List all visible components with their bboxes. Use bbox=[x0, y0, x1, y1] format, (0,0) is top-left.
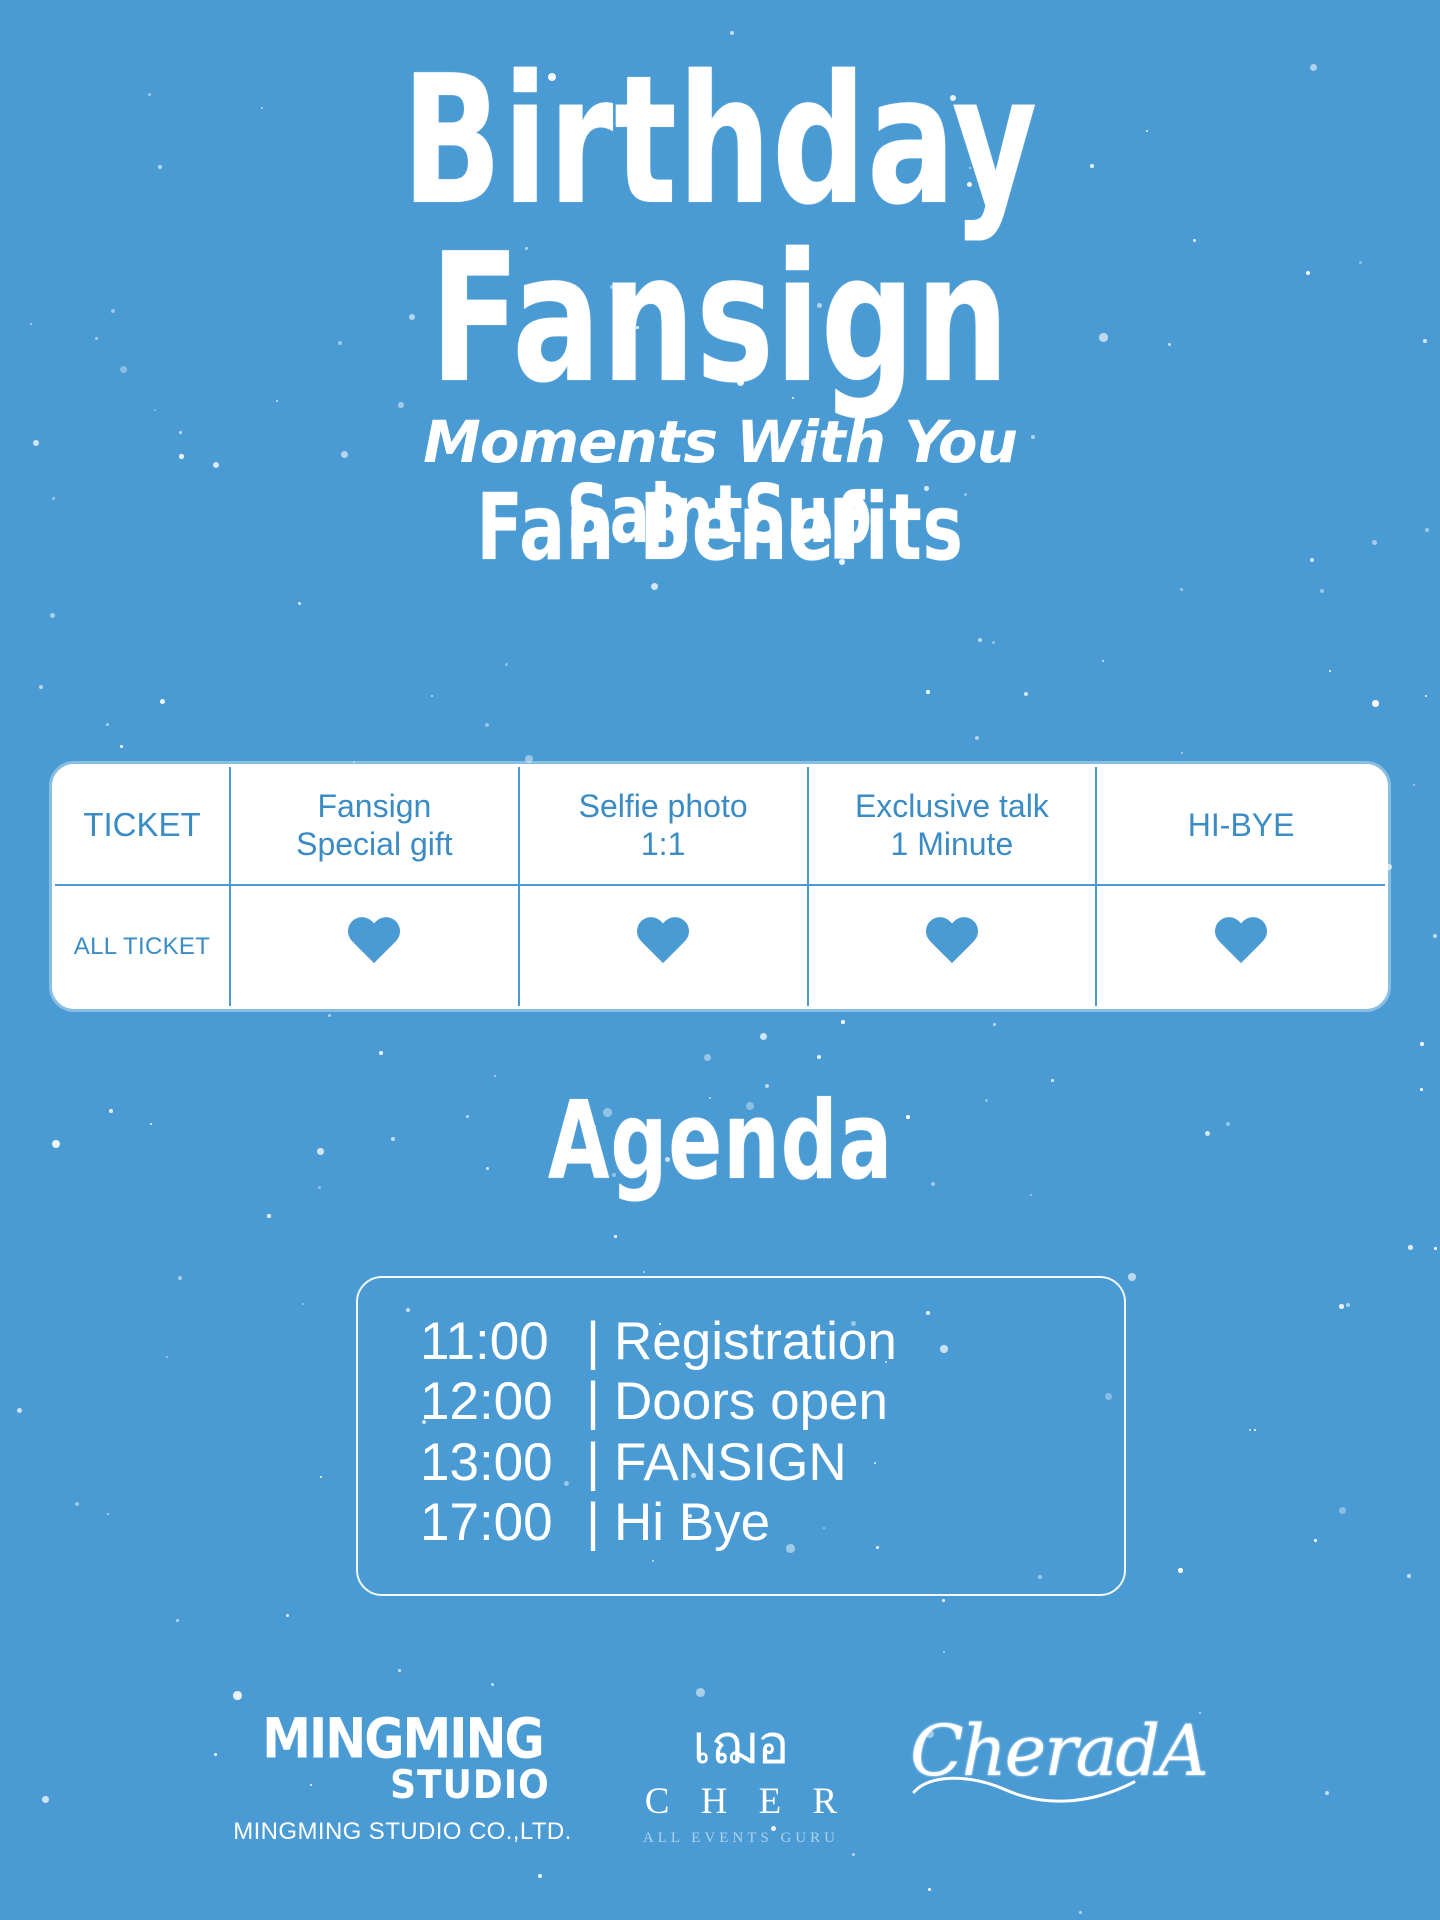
star-dot bbox=[1320, 589, 1324, 593]
star-dot bbox=[1372, 700, 1379, 707]
benefit-cell-exclusive-talk bbox=[808, 885, 1097, 1007]
star-dot bbox=[704, 1054, 711, 1061]
column-header-exclusive-talk: Exclusive talk1 Minute bbox=[808, 767, 1097, 885]
star-dot bbox=[1178, 1568, 1183, 1573]
star-dot bbox=[841, 1020, 845, 1024]
star-dot bbox=[1180, 588, 1183, 591]
mingming-caption: MINGMING STUDIO CO.,LTD. bbox=[233, 1818, 572, 1846]
agenda-label: Hi Bye bbox=[614, 1493, 770, 1553]
star-dot bbox=[491, 1683, 494, 1686]
star-dot bbox=[1433, 934, 1437, 938]
column-header-fansign-gift: FansignSpecial gift bbox=[230, 767, 519, 885]
cher-wordmark: C H E R bbox=[634, 1780, 848, 1823]
benefit-cell-selfie-photo bbox=[519, 885, 808, 1007]
benefits-heading-wrap: Fan Benefits bbox=[0, 482, 1440, 574]
star-dot bbox=[1051, 1079, 1054, 1082]
star-dot bbox=[320, 1476, 322, 1478]
star-dot bbox=[298, 602, 301, 605]
star-dot bbox=[942, 1599, 945, 1602]
star-dot bbox=[160, 699, 165, 704]
star-dot bbox=[992, 641, 995, 644]
agenda-heading-wrap: Agenda bbox=[0, 1088, 1440, 1196]
logo-mingming-studio: MINGMING STUDIO MINGMING STUDIO CO.,LTD. bbox=[233, 1714, 572, 1846]
list-item: 17:00 | Hi Bye bbox=[420, 1493, 1124, 1553]
benefit-cell-hi-bye bbox=[1096, 885, 1385, 1007]
star-dot bbox=[107, 1513, 109, 1515]
column-header-hi-bye: HI-BYE bbox=[1096, 767, 1385, 885]
agenda-time: 17:00 bbox=[420, 1493, 572, 1553]
heart-icon bbox=[1213, 918, 1269, 970]
star-dot bbox=[1314, 1539, 1317, 1542]
list-item: 12:00 | Doors open bbox=[420, 1372, 1124, 1432]
star-dot bbox=[379, 1051, 383, 1055]
star-dot bbox=[1024, 692, 1028, 696]
page-title: Birthday Fansign bbox=[130, 52, 1311, 408]
star-dot bbox=[1181, 752, 1183, 754]
logo-cherada: CheradA bbox=[910, 1716, 1207, 1812]
main-title-wrap: Birthday Fansign bbox=[0, 0, 1440, 408]
star-dot bbox=[1329, 670, 1331, 672]
star-dot bbox=[1079, 1911, 1082, 1914]
agenda-separator: | bbox=[572, 1433, 614, 1493]
agenda-time: 13:00 bbox=[420, 1433, 572, 1493]
row-label-all-ticket: ALL TICKET bbox=[55, 885, 230, 1007]
star-dot bbox=[120, 745, 123, 748]
column-header-selfie-photo: Selfie photo1:1 bbox=[519, 767, 808, 885]
star-dot bbox=[1249, 1429, 1251, 1431]
star-dot bbox=[643, 1271, 645, 1273]
heart-icon bbox=[346, 918, 402, 970]
star-dot bbox=[1425, 695, 1427, 697]
star-dot bbox=[1408, 1245, 1413, 1250]
heart-icon bbox=[635, 918, 691, 970]
star-dot bbox=[505, 663, 508, 666]
agenda-label: Doors open bbox=[614, 1372, 888, 1432]
star-dot bbox=[178, 1276, 182, 1280]
star-dot bbox=[39, 685, 43, 689]
star-dot bbox=[328, 1014, 331, 1017]
star-dot bbox=[760, 1033, 767, 1040]
star-dot bbox=[50, 613, 55, 618]
star-dot bbox=[286, 1614, 289, 1617]
table-header-row: TICKET FansignSpecial gift Selfie photo1… bbox=[55, 767, 1385, 885]
agenda-separator: | bbox=[572, 1493, 614, 1553]
star-dot bbox=[926, 690, 930, 694]
star-dot bbox=[1434, 1247, 1437, 1250]
list-item: 11:00 | Registration bbox=[420, 1312, 1124, 1372]
agenda-time: 11:00 bbox=[420, 1312, 572, 1372]
logo-cher: เฌอ C H E R ALL EVENTS GURU bbox=[634, 1718, 848, 1847]
star-dot bbox=[1102, 660, 1104, 662]
star-dot bbox=[696, 1688, 705, 1697]
star-dot bbox=[978, 638, 982, 642]
star-dot bbox=[1346, 1303, 1350, 1307]
cher-tagline: ALL EVENTS GURU bbox=[634, 1830, 848, 1847]
star-dot bbox=[106, 723, 109, 726]
star-dot bbox=[1339, 1507, 1346, 1514]
mingming-wordmark: MINGMING bbox=[233, 1714, 572, 1766]
column-header-ticket: TICKET bbox=[55, 767, 230, 885]
agenda-box: 11:00 | Registration 12:00 | Doors open … bbox=[356, 1276, 1126, 1596]
star-dot bbox=[975, 736, 979, 740]
poster-canvas: Birthday Fansign Moments With You SaintS… bbox=[0, 0, 1440, 1920]
star-dot bbox=[233, 1691, 242, 1700]
agenda-separator: | bbox=[572, 1372, 614, 1432]
star-dot bbox=[353, 761, 355, 763]
star-dot bbox=[817, 1055, 821, 1059]
star-dot bbox=[993, 1023, 996, 1026]
star-dot bbox=[1407, 1574, 1411, 1578]
benefit-cell-fansign-gift bbox=[230, 885, 519, 1007]
star-dot bbox=[431, 695, 433, 697]
benefits-heading: Fan Benefits bbox=[476, 482, 963, 574]
cherada-wordmark: CheradA bbox=[910, 1716, 1207, 1786]
star-dot bbox=[1128, 1273, 1136, 1281]
star-dot bbox=[614, 1235, 617, 1238]
agenda-separator: | bbox=[572, 1312, 614, 1372]
star-dot bbox=[1254, 1429, 1256, 1431]
star-dot bbox=[17, 1408, 22, 1413]
star-dot bbox=[651, 583, 658, 590]
star-dot bbox=[176, 1619, 179, 1622]
star-dot bbox=[302, 1303, 304, 1305]
star-dot bbox=[1413, 784, 1415, 786]
mingming-studio-wordmark: STUDIO bbox=[233, 1762, 572, 1807]
agenda-time: 12:00 bbox=[420, 1372, 572, 1432]
star-dot bbox=[75, 1502, 79, 1506]
footer-logos: MINGMING STUDIO MINGMING STUDIO CO.,LTD.… bbox=[0, 1714, 1440, 1894]
star-dot bbox=[943, 1651, 945, 1653]
agenda-label: FANSIGN bbox=[614, 1433, 847, 1493]
star-dot bbox=[525, 755, 533, 763]
poster-header: Birthday Fansign Moments With You SaintS… bbox=[0, 0, 1440, 555]
cher-thai-mark: เฌอ bbox=[634, 1718, 848, 1772]
star-dot bbox=[398, 1669, 401, 1672]
star-dot bbox=[485, 723, 489, 727]
star-dot bbox=[1420, 1042, 1424, 1046]
table-row: ALL TICKET bbox=[55, 885, 1385, 1007]
star-dot bbox=[494, 1075, 496, 1077]
agenda-heading: Agenda bbox=[547, 1088, 892, 1196]
heart-icon bbox=[924, 918, 980, 970]
star-dot bbox=[267, 1214, 271, 1218]
list-item: 13:00 | FANSIGN bbox=[420, 1433, 1124, 1493]
star-dot bbox=[1339, 1304, 1344, 1309]
benefits-table: TICKET FansignSpecial gift Selfie photo1… bbox=[52, 764, 1388, 1009]
star-dot bbox=[166, 1356, 168, 1358]
agenda-label: Registration bbox=[614, 1312, 897, 1372]
